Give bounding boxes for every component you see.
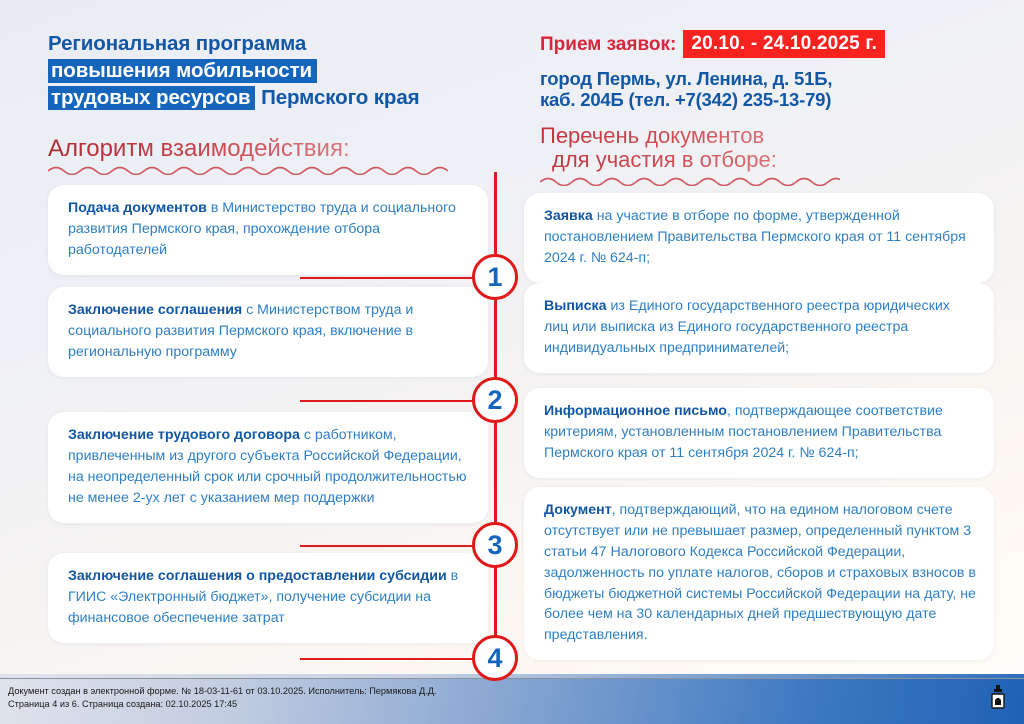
- accept-label: Прием заявок:: [540, 35, 676, 54]
- algorithm-heading: Алгоритм взаимодействия:: [48, 137, 508, 161]
- document-card-1: Заявка на участие в отборе по форме, утв…: [524, 193, 994, 283]
- document-footer: Документ создан в электронной форме. № 1…: [0, 678, 1024, 724]
- poster-page: Региональная программа повышения мобильн…: [0, 0, 1024, 724]
- title-line-3-plain: Пермского края: [261, 86, 419, 109]
- document-4-text: , подтверждающий, что на едином налогово…: [544, 502, 976, 643]
- address-block: город Пермь, ул. Ленина, д. 51Б, каб. 20…: [540, 68, 1020, 110]
- documents-heading-line-2: для участия в отборе:: [540, 148, 1020, 172]
- footer-line-1: Документ создан в электронной форме. № 1…: [8, 685, 437, 698]
- timeline-connector-4: [300, 658, 480, 660]
- right-header: Прием заявок: 20.10. - 24.10.2025 г. гор…: [540, 30, 1020, 186]
- document-card-2: Выписка из Единого государственного реес…: [524, 283, 994, 373]
- documents-heading: Перечень документов для участия в отборе…: [540, 124, 1020, 172]
- wave-underline-left: [48, 163, 508, 175]
- timeline-node-4: 4: [472, 635, 518, 681]
- footer-line-2: Страница 4 из 6. Страница создана: 02.10…: [8, 698, 437, 711]
- document-2-bold: Выписка: [544, 298, 607, 314]
- title-line-2: повышения мобильности: [48, 59, 317, 83]
- title-line-3-highlight: трудовых ресурсов: [48, 86, 255, 110]
- timeline-node-3: 3: [472, 522, 518, 568]
- left-header: Региональная программа повышения мобильн…: [48, 30, 508, 175]
- step-4-bold: Заключение соглашения о предоставлении с…: [68, 568, 447, 584]
- timeline-node-1: 1: [472, 254, 518, 300]
- digital-signature-stamp-icon: [990, 685, 1006, 715]
- document-3-bold: Информационное письмо: [544, 403, 727, 419]
- document-1-bold: Заявка: [544, 208, 593, 224]
- page-title: Региональная программа повышения мобильн…: [48, 30, 508, 111]
- timeline-connector-2: [300, 400, 480, 402]
- step-1-bold: Подача документов: [68, 200, 207, 216]
- wave-underline-right: [540, 174, 1020, 186]
- accept-applications-row: Прием заявок: 20.10. - 24.10.2025 г.: [540, 30, 1020, 58]
- address-line-1: город Пермь, ул. Ленина, д. 51Б,: [540, 68, 1020, 89]
- timeline-connector-3: [300, 545, 480, 547]
- address-line-2: каб. 204Б (тел. +7(342) 235-13-79): [540, 89, 1020, 110]
- step-card-2: Заключение соглашения с Министерством тр…: [48, 287, 488, 377]
- accept-dates-badge: 20.10. - 24.10.2025 г.: [683, 30, 885, 58]
- document-1-text: на участие в отборе по форме, утвержденн…: [544, 208, 966, 266]
- documents-heading-line-1: Перечень документов: [540, 123, 764, 148]
- document-card-4: Документ, подтверждающий, что на едином …: [524, 487, 994, 660]
- step-card-1: Подача документов в Министерство труда и…: [48, 185, 488, 275]
- timeline-node-2: 2: [472, 377, 518, 423]
- document-4-bold: Документ: [544, 502, 612, 518]
- document-card-3: Информационное письмо, подтверждающее со…: [524, 388, 994, 478]
- footer-metadata: Документ создан в электронной форме. № 1…: [8, 685, 437, 712]
- step-card-3: Заключение трудового договора с работник…: [48, 412, 488, 523]
- title-line-1: Региональная программа: [48, 32, 306, 55]
- step-3-bold: Заключение трудового договора: [68, 427, 300, 443]
- timeline-connector-1: [300, 277, 480, 279]
- step-2-bold: Заключение соглашения: [68, 302, 242, 318]
- step-card-4: Заключение соглашения о предоставлении с…: [48, 553, 488, 643]
